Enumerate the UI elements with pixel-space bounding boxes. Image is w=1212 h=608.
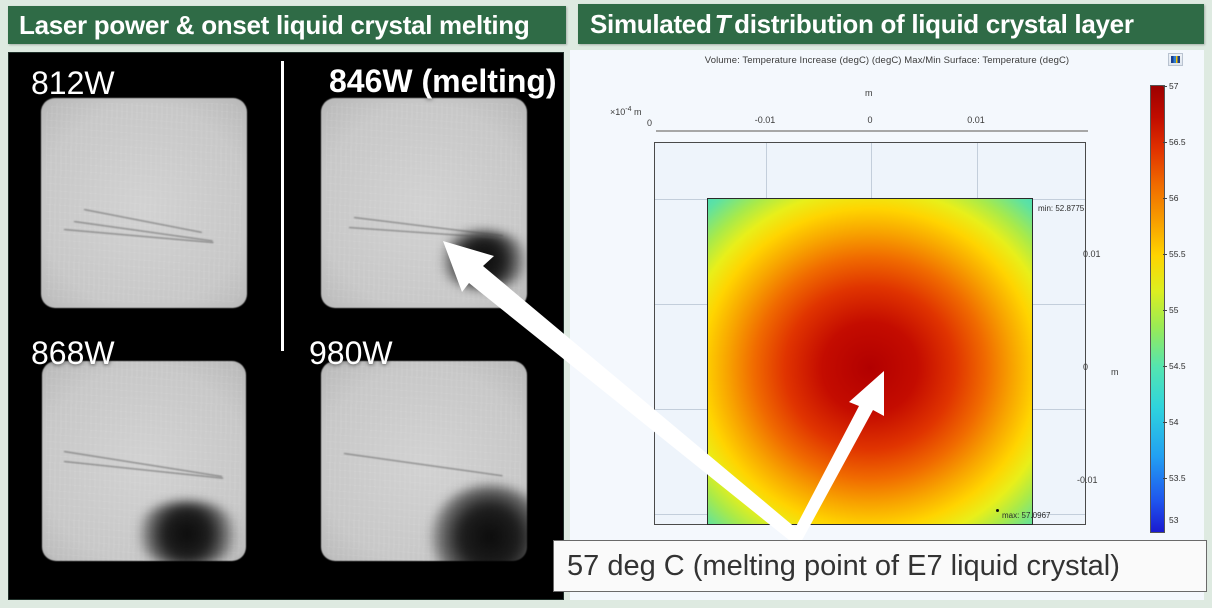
z-zero-tick: 0 xyxy=(647,118,652,128)
colorbar-tick-56.5: 56.5 xyxy=(1169,137,1186,147)
right-panel-title-pre: Simulated xyxy=(590,9,712,40)
colorbar-tick-mark xyxy=(1163,142,1167,143)
comsol-plot-panel: Volume: Temperature Increase (degC) (deg… xyxy=(570,50,1204,600)
colorbar-tick-56: 56 xyxy=(1169,193,1178,203)
min-annotation-label: min: 52.8775 xyxy=(1038,204,1084,213)
colorbar-tick-55: 55 xyxy=(1169,305,1178,315)
colorbar-tick-55.5: 55.5 xyxy=(1169,249,1186,259)
y-tick-1: 0 xyxy=(1083,362,1088,372)
colorbar-tick-mark xyxy=(1163,86,1167,87)
x-tick-1: 0 xyxy=(867,115,872,125)
left-panel-title: Laser power & onset liquid crystal melti… xyxy=(8,6,566,44)
right-panel-title-italic-T: T xyxy=(712,9,735,40)
x-axis-line xyxy=(656,130,1088,132)
z-exponent-power: -4 xyxy=(625,106,631,113)
max-annotation-label: max: 57.0967 xyxy=(1002,511,1050,520)
x-axis-unit-label: m xyxy=(865,88,873,98)
colorbar-tick-mark xyxy=(1163,310,1167,311)
y-tick-0: 0.01 xyxy=(1083,249,1101,259)
x-tick-0: -0.01 xyxy=(755,115,776,125)
temperature-colorbar xyxy=(1150,85,1165,533)
colorbar-tick-54: 54 xyxy=(1169,417,1178,427)
colorbar-tick-53: 53 xyxy=(1169,515,1178,525)
z-exponent-base: ×10 xyxy=(610,107,625,117)
slide-root: Laser power & onset liquid crystal melti… xyxy=(0,0,1212,608)
ir-cell-868w: 868W xyxy=(9,323,279,599)
ir-cell-846w: 846W (melting) xyxy=(285,53,563,353)
colorbar-tick-mark xyxy=(1163,254,1167,255)
colorbar-tick-mark xyxy=(1163,366,1167,367)
ir-photo-panel: 812W 846W (melting) 868W xyxy=(8,52,564,600)
y-axis-unit-label: m xyxy=(1111,367,1119,377)
ir-cell-812w: 812W xyxy=(9,53,279,353)
left-panel-title-text: Laser power & onset liquid crystal melti… xyxy=(19,10,529,41)
right-panel-title-post: distribution of liquid crystal layer xyxy=(734,9,1134,40)
y-tick-2: -0.01 xyxy=(1077,475,1098,485)
x-tick-2: 0.01 xyxy=(967,115,985,125)
right-panel-title: Simulated T distribution of liquid cryst… xyxy=(578,4,1204,44)
colorbar-tick-mark xyxy=(1163,422,1167,423)
colorbar-tick-54.5: 54.5 xyxy=(1169,361,1186,371)
colorbar-tick-mark xyxy=(1163,198,1167,199)
ir-label-812w: 812W xyxy=(31,67,115,99)
z-exponent-unit: m xyxy=(634,107,642,117)
ir-label-868w: 868W xyxy=(31,337,115,369)
colorbar-tick-53.5: 53.5 xyxy=(1169,473,1186,483)
colorbar-tick-57: 57 xyxy=(1169,81,1178,91)
ir-label-980w: 980W xyxy=(309,337,393,369)
panel-divider xyxy=(281,61,284,351)
ir-cell-980w: 980W xyxy=(285,323,563,599)
colorbar-tick-mark xyxy=(1163,478,1167,479)
ir-label-846w: 846W (melting) xyxy=(329,65,557,97)
temperature-heatmap: max: 57.0967 xyxy=(707,198,1033,525)
melting-point-callout: 57 deg C (melting point of E7 liquid cry… xyxy=(553,540,1207,592)
max-marker-dot xyxy=(996,509,999,512)
plot-title: Volume: Temperature Increase (degC) (deg… xyxy=(570,55,1204,66)
melting-point-callout-text: 57 deg C (melting point of E7 liquid cry… xyxy=(567,550,1120,583)
z-exponent-label: ×10-4 m xyxy=(610,106,642,117)
